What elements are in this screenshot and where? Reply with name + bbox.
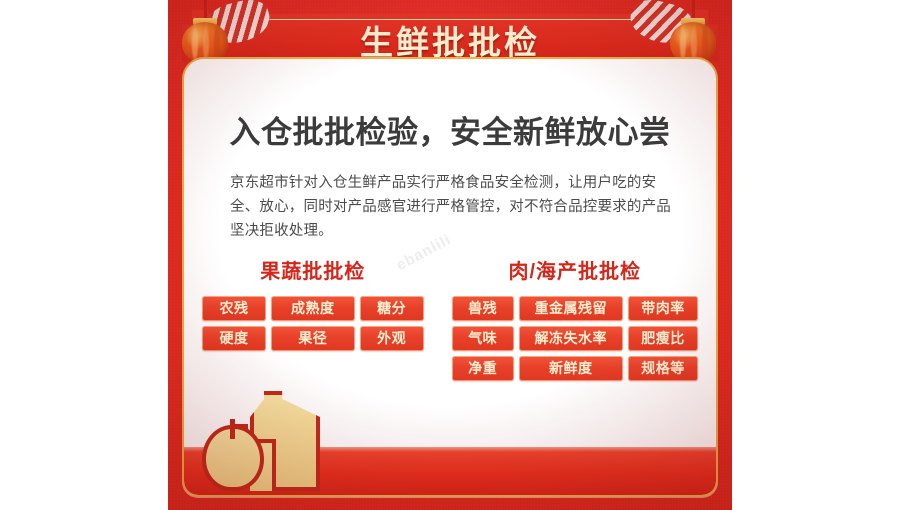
- tag-item: 重金属残留: [519, 296, 623, 321]
- poster-canvas: 生鲜批批检 ebanlili 入仓批批检验，安全新鲜放心尝 京东: [0, 0, 900, 510]
- lantern-cord: [204, 0, 207, 18]
- apple-stem: [230, 419, 235, 439]
- lantern-cord: [692, 0, 695, 18]
- tag-row: 净重 新鲜度 规格等: [452, 356, 698, 381]
- section-meat-seafood: 肉/海产批批检 兽残 重金属残留 带肉率 气味 解冻失水率 肥瘦比: [452, 255, 698, 381]
- tag-item: 硬度: [202, 326, 266, 351]
- tag-item: 农残: [202, 296, 266, 321]
- tag-item: 带肉率: [628, 296, 698, 321]
- sections-container: 果蔬批批检 农残 成熟度 糖分 硬度 果径 外观: [202, 255, 698, 381]
- apple-leaf: [235, 424, 248, 429]
- tag-item: 净重: [452, 356, 514, 381]
- section-produce: 果蔬批批检 农残 成熟度 糖分 硬度 果径 外观: [202, 255, 424, 381]
- tag-item: 气味: [452, 326, 514, 351]
- tag-grid-produce: 农残 成熟度 糖分 硬度 果径 外观: [202, 296, 424, 351]
- red-poster-frame: 生鲜批批检 ebanlili 入仓批批检验，安全新鲜放心尝 京东: [168, 0, 732, 510]
- tag-item: 外观: [360, 326, 424, 351]
- tag-item: 新鲜度: [519, 356, 623, 381]
- tag-item: 解冻失水率: [519, 326, 623, 351]
- tag-item: 兽残: [452, 296, 514, 321]
- section-title-produce: 果蔬批批检: [260, 255, 365, 284]
- tag-item: 糖分: [360, 296, 424, 321]
- tag-row: 农残 成熟度 糖分: [202, 296, 424, 321]
- content-card: ebanlili 入仓批批检验，安全新鲜放心尝 京东超市针对入仓生鲜产品实行严格…: [182, 57, 718, 497]
- tag-row: 硬度 果径 外观: [202, 326, 424, 351]
- tag-row: 兽残 重金属残留 带肉率: [452, 296, 698, 321]
- tag-row: 气味 解冻失水率 肥瘦比: [452, 326, 698, 351]
- tag-item: 果径: [271, 326, 355, 351]
- headline: 入仓批批检验，安全新鲜放心尝: [184, 107, 716, 152]
- tag-item: 成熟度: [271, 296, 355, 321]
- product-illustration: [194, 385, 344, 495]
- section-title-meat-seafood: 肉/海产批批检: [509, 255, 642, 284]
- tag-item: 规格等: [628, 356, 698, 381]
- tag-grid-meat-seafood: 兽残 重金属残留 带肉率 气味 解冻失水率 肥瘦比 净重 新鲜度 规格等: [452, 296, 698, 381]
- tag-item: 肥瘦比: [628, 326, 698, 351]
- body-paragraph: 京东超市针对入仓生鲜产品实行严格食品安全检测，让用户吃的安全、放心，同时对产品感…: [230, 171, 676, 243]
